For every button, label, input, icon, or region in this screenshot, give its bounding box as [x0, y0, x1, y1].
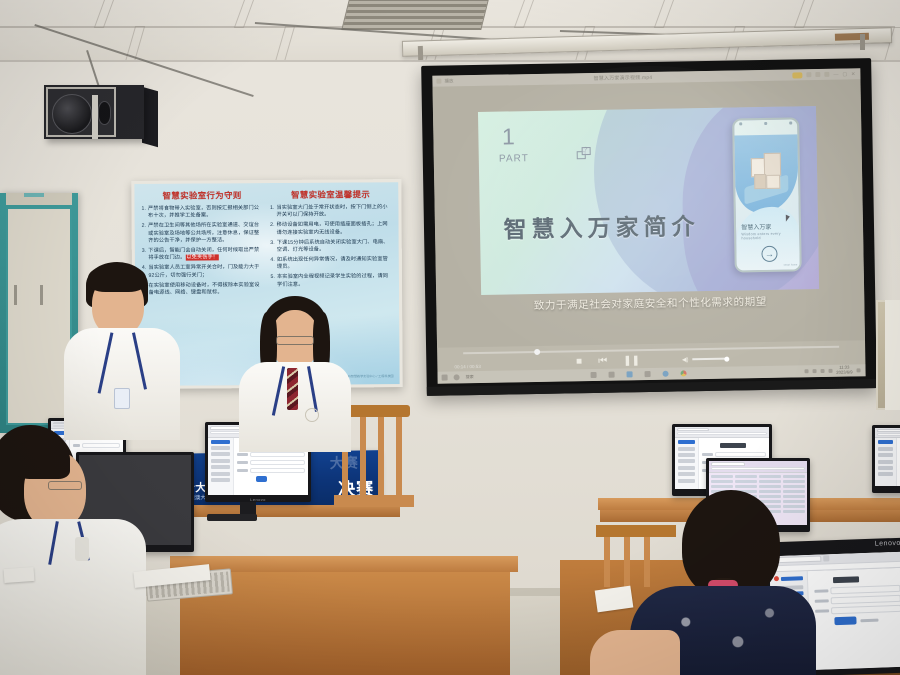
poster-item: 2.严禁在卫生间等其他场所在实验室通道、交谊台或实验室及场地等公共场所，注意休息… [142, 222, 264, 245]
speaker-tray-icon[interactable] [820, 369, 824, 373]
poster-right-title: 智慧实验室温馨提示 [270, 188, 392, 201]
video-stage[interactable]: 1 PART ? 智慧入万家简介 [433, 79, 865, 347]
submit-button[interactable] [834, 616, 856, 625]
taskbar-tray[interactable]: 11:33 2023/6/9 [804, 366, 865, 376]
cabinet-handle-right[interactable] [40, 285, 43, 305]
screen-bracket-right [860, 34, 865, 50]
ime-icon[interactable] [828, 369, 832, 373]
cortana-search-icon[interactable] [454, 374, 460, 380]
chair-seat [334, 495, 414, 507]
torso [64, 328, 180, 440]
glasses-icon [48, 481, 82, 490]
phone-mockup: 智慧入万家 Wisdom enters every household → sm… [732, 117, 802, 272]
maximize-icon[interactable]: ▢ [842, 71, 847, 77]
mon-center-base [207, 514, 257, 521]
close-icon[interactable]: ✕ [851, 71, 855, 77]
chair-slat [396, 417, 402, 497]
chair-slat [360, 417, 366, 497]
mouse-cursor [786, 214, 790, 221]
hair-front [12, 439, 70, 479]
chat-bubble-icon: ? [577, 147, 592, 160]
network-icon[interactable] [812, 369, 816, 373]
window-blind [885, 300, 900, 410]
audience-right [630, 490, 820, 675]
arm [590, 630, 680, 675]
shirt-emblem [305, 408, 319, 422]
poster-item: 3.下课15分钟后系统自动关闭实验室大门、电扇、空调、灯光等设备。 [270, 239, 392, 255]
presenter-male [66, 262, 176, 437]
mon-far-right[interactable] [872, 425, 900, 493]
poster-item: 5.本实验室内全程视频记录学生实验的过程，请同学们注意。 [270, 274, 392, 290]
vip-badge-icon [792, 72, 802, 78]
clock-date: 2023/6/9 [836, 370, 852, 375]
id-badge [114, 388, 130, 409]
minimize-icon[interactable]: — [833, 71, 838, 77]
projector-screen: 播放 智慧入万家演示视频.mp4 — ▢ ✕ 1 [421, 58, 877, 396]
poster-right-list: 1.当实验室大门处于常开状态时，按下门侧上的小开关可以门保持开放。 2.移动设备… [270, 204, 392, 289]
chair-right[interactable] [596, 525, 676, 537]
cabinet-handle-left[interactable] [14, 285, 17, 305]
taskbar-start-area[interactable]: 搜索 [438, 374, 474, 381]
phone-app-tagline: Wisdom enters every household [741, 231, 799, 240]
taskbar-pinned-apps[interactable] [474, 368, 805, 380]
ceiling-vent [341, 0, 488, 30]
volume-icon[interactable]: ◀) [682, 356, 689, 363]
hair-top [88, 264, 146, 292]
windows-start-icon[interactable] [442, 375, 448, 381]
poster-item: 4.如系统出现任何异常情况，请及时通知实验室管理员。 [270, 256, 392, 272]
chair-slat [644, 537, 650, 587]
speaker-tweeter-icon [98, 101, 111, 125]
seek-knob[interactable] [534, 349, 540, 355]
isometric-house-illustration [742, 149, 791, 207]
pause-button[interactable]: ❚❚ [623, 355, 640, 366]
torso [0, 519, 146, 675]
folder-icon[interactable] [609, 372, 615, 378]
paper-on-shelf [4, 567, 35, 583]
search-label[interactable]: 搜索 [466, 374, 474, 380]
video-subtitle: 致力于满足社会对家庭安全和个性化需求的期望 [462, 294, 839, 315]
media-player-icon[interactable] [663, 371, 669, 377]
poster-highlight: 以免夹伤手！ [185, 255, 219, 261]
player-menu-icons[interactable]: 播放 [432, 78, 453, 84]
chair-slat [624, 537, 630, 587]
chrome-icon[interactable] [681, 370, 687, 376]
tray-expand-icon[interactable] [804, 369, 808, 373]
speaker-cone-icon [52, 94, 92, 134]
phone-app-name: 智慧入万家 [741, 222, 771, 232]
lenovo-brand-logo: Lenovo [875, 540, 900, 548]
player-menu-label[interactable]: 播放 [444, 78, 453, 84]
poster-left-title: 智慧实验室行为守则 [141, 189, 263, 202]
volume-slider[interactable] [693, 358, 727, 361]
presentation-slide: 1 PART ? 智慧入万家简介 [478, 106, 819, 295]
window-controls[interactable]: — ▢ ✕ [792, 71, 860, 78]
edge-icon[interactable] [627, 371, 633, 377]
poster-item: 1.当实验室大门处于常开状态时，按下门侧上的小开关可以门保持开放。 [270, 204, 392, 220]
chair-slat [604, 537, 610, 587]
phone-status-bar [739, 122, 793, 127]
glasses-icon [276, 336, 314, 345]
phone-credit: smart home [784, 263, 798, 266]
screenshot-icon[interactable] [806, 72, 811, 77]
poster-item: 2.移动设备如需用电，可使用插座面板插孔；上网请勿连接实验室内无线设备。 [270, 221, 392, 237]
classroom-scene: 智慧实验室行为守则 1.严禁将食物带入实验室，否则按汇报相关部门公布十次，并推学… [0, 0, 900, 675]
cast-icon[interactable] [815, 72, 820, 77]
poster-item: 3.下课后，智能门会自动关闭，任何时候取出严禁将手放在门边。以免夹伤手！ [142, 247, 264, 263]
explorer-icon[interactable] [645, 371, 651, 377]
slide-title: 智慧入万家简介 [503, 207, 700, 244]
wall-speaker [44, 85, 144, 139]
monitor-brand-logo: Lenovo [250, 497, 266, 502]
settings-icon[interactable] [824, 72, 829, 77]
reset-button[interactable] [860, 618, 878, 622]
stop-button[interactable]: ■ [576, 356, 582, 367]
screen-bracket-left [418, 46, 423, 60]
poster-item: 1.严禁将食物带入实验室，否则按汇报相关部门公布十次，并推学工处备案。 [141, 205, 263, 221]
water-bottle[interactable] [75, 537, 89, 561]
new-tab-icon[interactable] [823, 555, 829, 561]
previous-button[interactable]: ⏮ [598, 355, 607, 366]
notification-icon[interactable] [856, 368, 860, 372]
part-word: PART [499, 153, 529, 165]
player-logo-icon [436, 79, 441, 84]
mail-icon[interactable] [591, 372, 597, 378]
projection-surface: 播放 智慧入万家演示视频.mp4 — ▢ ✕ 1 [432, 68, 865, 383]
presenter-female [243, 296, 348, 446]
chair-slat [378, 417, 384, 497]
part-number: 1 [502, 126, 515, 147]
necktie [287, 368, 298, 410]
volume-control[interactable]: ◀) [682, 355, 727, 363]
taskbar-clock[interactable]: 11:33 2023/6/9 [836, 366, 852, 376]
